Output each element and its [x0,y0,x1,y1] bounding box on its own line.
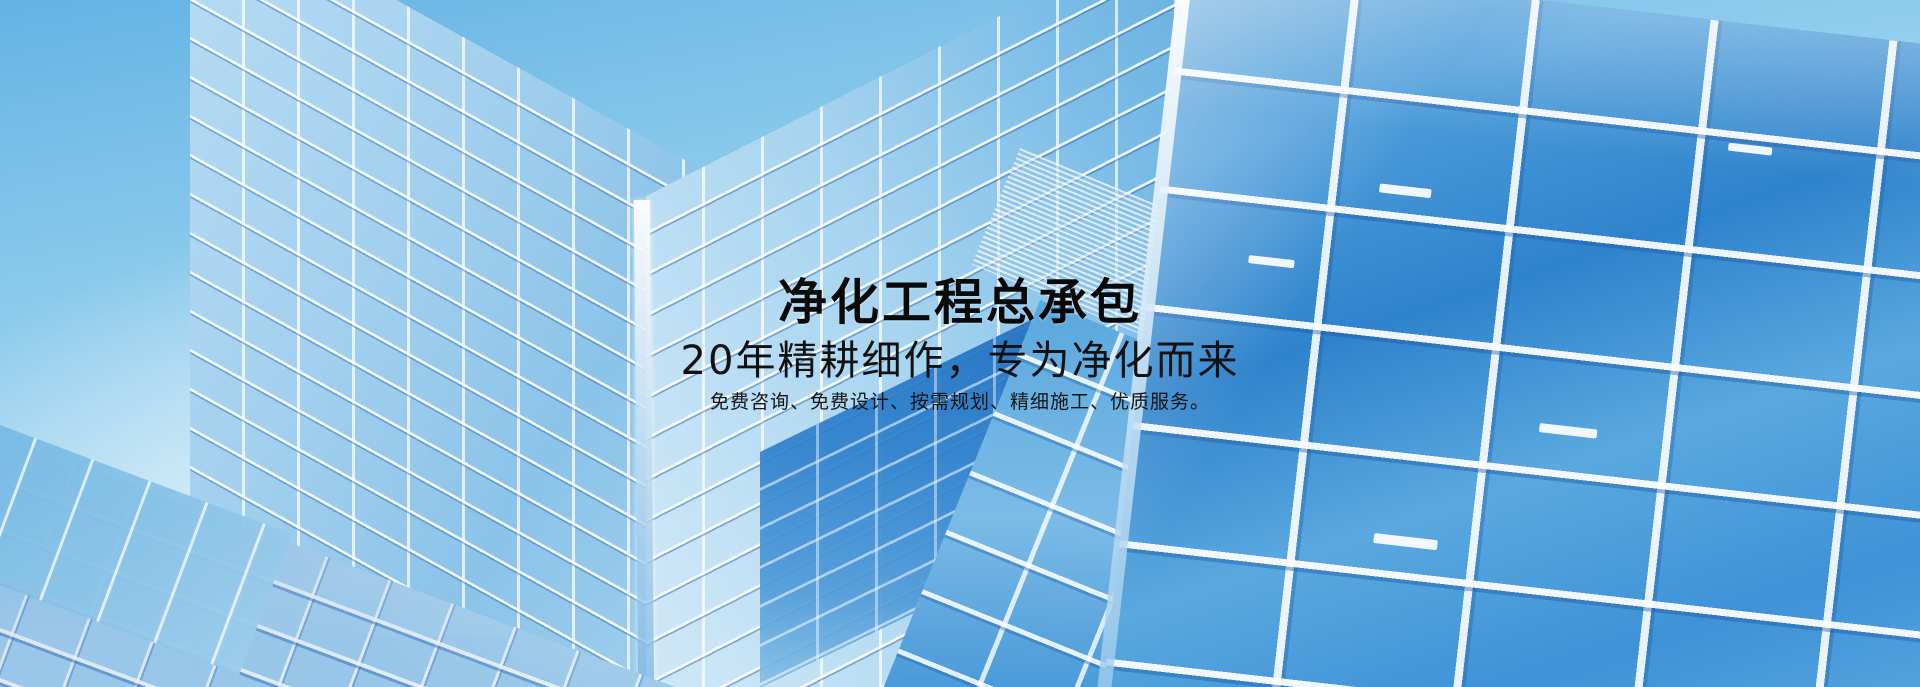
hero-subheadline: 20年精耕细作，专为净化而来 [0,340,1920,382]
hero-tagline: 免费咨询、免费设计、按需规划、精细施工、优质服务。 [0,391,1920,414]
hero-copy-block: 净化工程总承包 20年精耕细作，专为净化而来 免费咨询、免费设计、按需规划、精细… [0,278,1920,414]
hero-headline: 净化工程总承包 [0,278,1920,328]
hero-banner: 净化工程总承包 20年精耕细作，专为净化而来 免费咨询、免费设计、按需规划、精细… [0,0,1920,687]
